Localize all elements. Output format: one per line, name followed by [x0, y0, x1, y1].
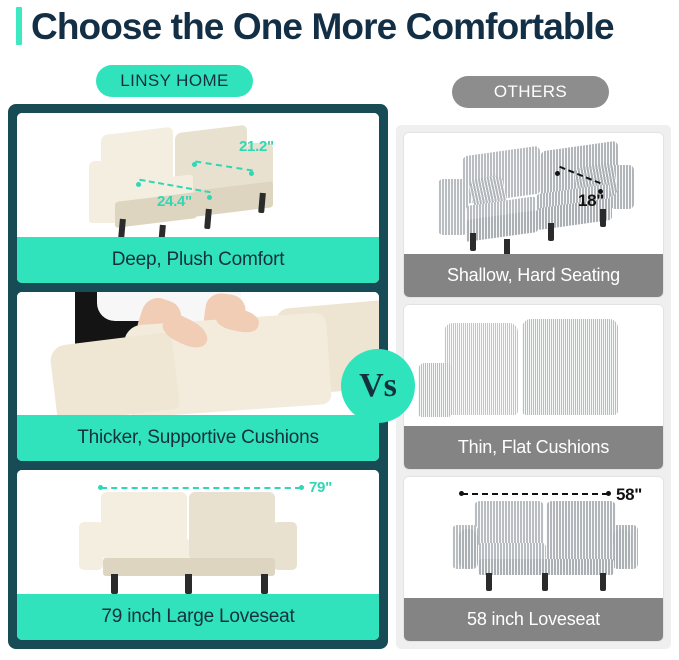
others-caption-2-text: Thin, Flat Cushions [458, 437, 609, 458]
dim-label-overall-width-others: 58" [616, 485, 642, 505]
brand-pill-linsy-label: LINSY HOME [120, 71, 229, 91]
dim-dot-width-right-others [606, 491, 611, 496]
others-caption-2: Thin, Flat Cushions [404, 426, 663, 469]
grey-loveseat-front-image: 58" [404, 477, 663, 598]
others-card-shallow-hard-seating: 18" Shallow, Hard Seating [404, 133, 663, 297]
title-accent-bar [16, 7, 22, 45]
title-text: Choose the One More Comfortable [31, 8, 614, 45]
cushion-left [49, 331, 181, 415]
grey-cushions-closeup-image [404, 305, 663, 426]
dim-label-overall-width: 79" [309, 479, 332, 496]
others-card-58-inch-loveseat: 58" 58 inch Loveseat [404, 477, 663, 641]
dim-label-seat-width: 24.4" [157, 193, 192, 210]
linsy-caption-3: 79 inch Large Loveseat [17, 594, 379, 640]
dim-line-overall-width-others [462, 493, 608, 495]
cream-sofa-angled-image: 21.2" 24.4" [17, 113, 379, 237]
dim-label-seat-depth: 21.2" [239, 138, 274, 155]
dim-dot-width-left [98, 485, 103, 490]
grey-sofa-angled-image: 18" [404, 133, 663, 254]
linsy-panel: 21.2" 24.4" Deep, Plush Comfort [8, 104, 388, 649]
dim-line-overall-width [101, 487, 301, 489]
grey-cushion-right [522, 319, 618, 415]
linsy-card-deep-plush-comfort: 21.2" 24.4" Deep, Plush Comfort [17, 113, 379, 283]
others-caption-3: 58 inch Loveseat [404, 598, 663, 641]
others-caption-1: Shallow, Hard Seating [404, 254, 663, 297]
cream-loveseat-front-image: 79" [17, 470, 379, 594]
linsy-caption-3-text: 79 inch Large Loveseat [101, 606, 294, 628]
vs-badge: Vs [341, 349, 415, 423]
vs-badge-label: Vs [359, 367, 397, 405]
linsy-card-79-inch-loveseat: 79" 79 inch Large Loveseat [17, 470, 379, 640]
grey-cushion-left [444, 323, 518, 415]
linsy-caption-2-text: Thicker, Supportive Cushions [77, 427, 319, 449]
linsy-caption-1-text: Deep, Plush Comfort [112, 249, 285, 271]
person-cushion-image [17, 292, 379, 416]
linsy-caption-2: Thicker, Supportive Cushions [17, 415, 379, 461]
brand-pill-others-label: OTHERS [494, 82, 567, 102]
dim-dot-width-right [299, 485, 304, 490]
dim-dot-width-start [136, 182, 141, 187]
dim-dot-width-end [207, 195, 212, 200]
dim-dot-depth-start [192, 162, 197, 167]
dim-label-seat-depth-others: 18" [578, 191, 604, 211]
linsy-card-thicker-cushions: Thicker, Supportive Cushions [17, 292, 379, 462]
others-card-thin-flat-cushions: Thin, Flat Cushions [404, 305, 663, 469]
others-caption-3-text: 58 inch Loveseat [467, 609, 600, 630]
brand-pill-linsy-home: LINSY HOME [96, 65, 253, 97]
others-panel: 18" Shallow, Hard Seating Thin, Flat Cus… [396, 125, 671, 649]
dim-dot-depth-start-others [555, 171, 560, 176]
grey-armrest [418, 363, 452, 417]
others-caption-1-text: Shallow, Hard Seating [447, 265, 620, 286]
page-title: Choose the One More Comfortable [0, 0, 679, 52]
linsy-caption-1: Deep, Plush Comfort [17, 237, 379, 283]
dim-dot-width-left-others [459, 491, 464, 496]
infographic-page: Choose the One More Comfortable LINSY HO… [0, 0, 679, 660]
brand-pill-others: OTHERS [452, 76, 609, 108]
dim-dot-depth-end [249, 171, 254, 176]
